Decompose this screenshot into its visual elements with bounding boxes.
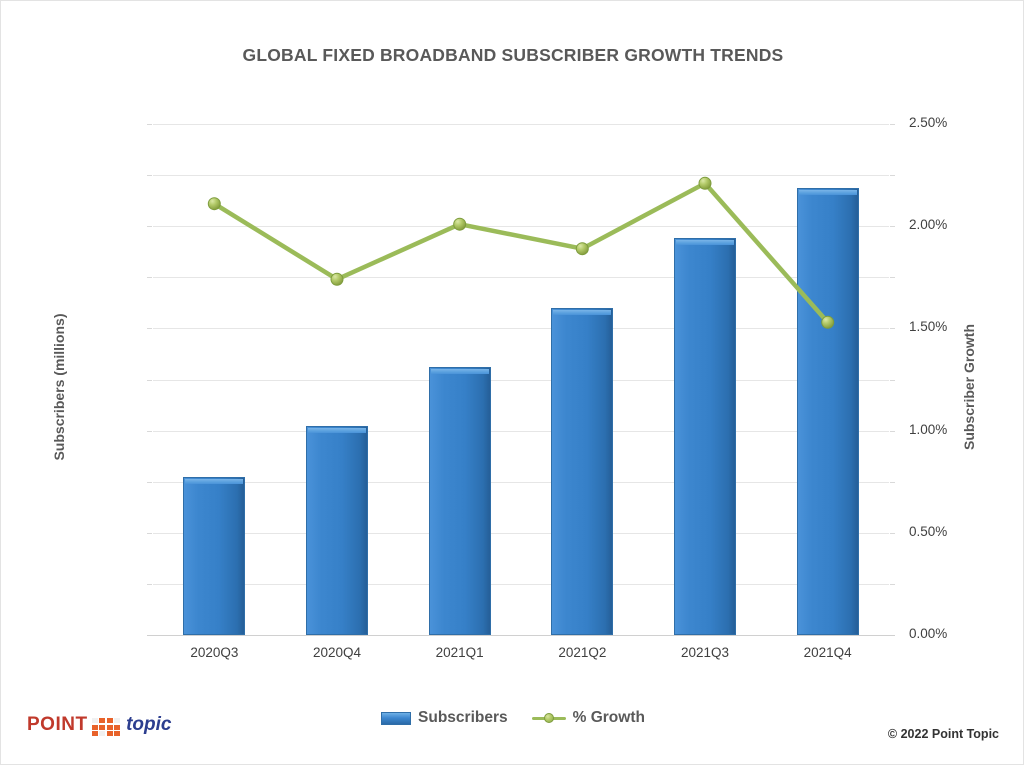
page-title: GLOBAL FIXED BROADBAND SUBSCRIBER GROWTH… [1,45,1024,66]
x-axis-tick-label: 2021Q3 [644,645,767,660]
x-axis-line [147,635,895,636]
y-axis-left-title: Subscribers (millions) [51,277,67,497]
axis-tick [147,124,152,125]
growth-line [214,183,827,322]
growth-marker-2021Q3 [699,177,711,189]
axis-tick [890,175,895,176]
axis-tick [890,124,895,125]
logo-squares-icon [92,718,121,736]
axis-tick [147,277,152,278]
x-axis-tick-label: 2021Q1 [398,645,521,660]
y-axis-right-tick-label: 2.00% [909,217,947,232]
axis-tick [890,431,895,432]
axis-tick [147,380,152,381]
growth-marker-2020Q3 [208,198,220,210]
y-axis-right-tick-label: 1.00% [909,422,947,437]
growth-marker-2021Q1 [454,218,466,230]
axis-tick [147,226,152,227]
chart-canvas: GLOBAL FIXED BROADBAND SUBSCRIBER GROWTH… [0,0,1024,765]
line-marker-icon [532,712,566,724]
axis-tick [147,328,152,329]
y-axis-right-tick-label: 2.50% [909,115,947,130]
axis-tick [890,482,895,483]
axis-tick [147,533,152,534]
axis-tick [147,431,152,432]
axis-tick [890,584,895,585]
legend-item-subscribers[interactable]: Subscribers [381,709,508,727]
logo-text-topic: topic [126,714,171,736]
growth-marker-2020Q4 [331,273,343,285]
plot-area [153,124,889,635]
x-axis-tick-label: 2021Q4 [766,645,889,660]
y-axis-right-tick-label: 0.50% [909,524,947,539]
growth-marker-2021Q2 [576,243,588,255]
logo-text-point: POINT [27,714,88,736]
x-axis-tick-label: 2021Q2 [521,645,644,660]
y-axis-right-tick-label: 0.00% [909,626,947,641]
axis-tick [890,277,895,278]
legend-item-growth[interactable]: % Growth [532,709,645,727]
axis-tick [890,533,895,534]
legend-label-subscribers: Subscribers [418,709,508,727]
point-topic-logo: POINT topic [27,713,171,736]
axis-tick [890,380,895,381]
axis-tick [147,482,152,483]
legend-label-growth: % Growth [573,709,645,727]
axis-tick [890,226,895,227]
axis-tick [147,584,152,585]
y-axis-right-tick-label: 1.50% [909,319,947,334]
growth-marker-2021Q4 [822,316,834,328]
line-series [153,124,889,635]
y-axis-right-title: Subscriber Growth [961,277,977,497]
x-axis-tick-label: 2020Q4 [276,645,399,660]
x-axis-tick-label: 2020Q3 [153,645,276,660]
axis-tick [890,328,895,329]
axis-tick [147,175,152,176]
bar-swatch-icon [381,712,411,725]
copyright-text: © 2022 Point Topic [888,727,999,741]
